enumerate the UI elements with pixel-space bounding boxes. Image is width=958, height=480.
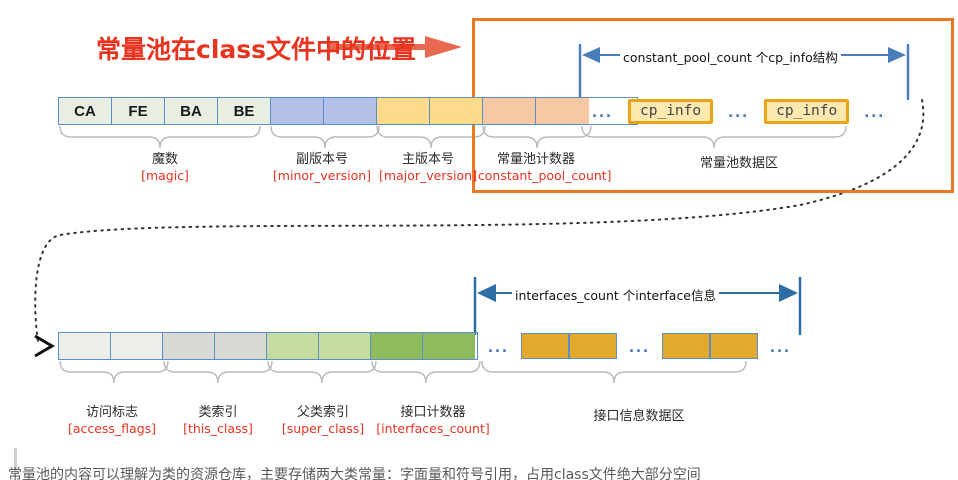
label-interfaces-count-cn: 接口计数器 <box>367 405 499 421</box>
label-access-flags-cn: 访问标志 <box>56 405 168 421</box>
byte-cell-thisclass-0 <box>163 333 215 359</box>
label-access-flags: 访问标志 [access_flags] <box>56 405 168 437</box>
byte-cell-magic-1: FE <box>112 98 165 124</box>
interface-cell <box>710 333 758 359</box>
byte-cell-cpcount-0 <box>483 98 536 124</box>
byte-cell-minor-0 <box>271 98 324 124</box>
interface-data-items: ... ... ... <box>488 331 798 361</box>
footer-text: 常量池的内容可以理解为类的资源仓库，主要存储两大类常量：字面量和符号引用，占用c… <box>8 464 952 480</box>
label-super-class-cn: 父类索引 <box>264 405 382 421</box>
label-this-class: 类索引 [this_class] <box>162 405 274 437</box>
ellipsis-dots: ... <box>592 104 613 118</box>
label-interface-data-region: 接口信息数据区 <box>534 405 744 424</box>
ellipsis-dots: ... <box>770 339 791 353</box>
ellipsis-dots: ... <box>488 339 509 353</box>
label-super-class: 父类索引 [super_class] <box>264 405 382 437</box>
interface-cell <box>569 333 617 359</box>
cp-info-chip: cp_info <box>628 99 713 124</box>
byte-cell-minor-1 <box>324 98 377 124</box>
byte-cell-magic-2: BA <box>165 98 218 124</box>
byte-cell-accessflags-0 <box>59 333 111 359</box>
label-major-version: 主版本号 [major_version] <box>372 152 484 184</box>
label-super-class-code: [super_class] <box>264 421 382 437</box>
class-file-body-strip <box>58 332 478 360</box>
cp-info-chip: cp_info <box>764 99 849 124</box>
byte-cell-ifcount-0 <box>371 333 423 359</box>
byte-cell-superclass-0 <box>267 333 319 359</box>
row2-braces <box>60 361 746 383</box>
label-cpcount-code: [constant_pool_count] <box>473 168 599 184</box>
byte-cell-cpcount-1 <box>536 98 589 124</box>
label-this-class-code: [this_class] <box>162 421 274 437</box>
label-major-version-cn: 主版本号 <box>372 152 484 168</box>
ellipsis-dots: ... <box>629 339 650 353</box>
interface-cell <box>521 333 569 359</box>
page-title: 常量池在class文件中的位置 <box>96 30 416 66</box>
byte-cell-accessflags-1 <box>111 333 163 359</box>
label-access-flags-code: [access_flags] <box>56 421 168 437</box>
label-minor-version-code: [minor_version] <box>266 168 378 184</box>
interface-pair-2 <box>662 333 758 359</box>
label-minor-version-cn: 副版本号 <box>266 152 378 168</box>
byte-cell-magic-0: CA <box>59 98 112 124</box>
label-magic-code: [magic] <box>60 168 270 184</box>
interface-cell <box>662 333 710 359</box>
row2-dimension-label: interfaces_count 个interface信息 <box>512 285 719 304</box>
byte-cell-magic-3: BE <box>218 98 271 124</box>
byte-cell-superclass-1 <box>319 333 371 359</box>
byte-cell-major-1 <box>430 98 483 124</box>
label-minor-version: 副版本号 [minor_version] <box>266 152 378 184</box>
label-this-class-cn: 类索引 <box>162 405 274 421</box>
label-major-version-code: [major_version] <box>372 168 484 184</box>
label-magic-cn: 魔数 <box>60 152 270 168</box>
class-file-header-strip: CA FE BA BE <box>58 97 638 125</box>
byte-cell-ifcount-1 <box>423 333 475 359</box>
ellipsis-dots: ... <box>864 104 885 118</box>
byte-cell-thisclass-1 <box>215 333 267 359</box>
label-magic: 魔数 [magic] <box>60 152 270 184</box>
label-interfaces-count: 接口计数器 [interfaces_count] <box>367 405 499 437</box>
label-cpcount-cn: 常量池计数器 <box>473 152 599 168</box>
byte-cell-major-0 <box>377 98 430 124</box>
row1-dimension-label: constant_pool_count 个cp_info结构 <box>620 47 841 66</box>
ellipsis-dots: ... <box>728 104 749 118</box>
label-constant-pool-data-region: 常量池数据区 <box>634 152 844 171</box>
diagram-canvas: 常量池在class文件中的位置 constant_pool_count 个cp_… <box>0 0 958 480</box>
label-constant-pool-count: 常量池计数器 [constant_pool_count] <box>473 152 599 184</box>
interface-pair-1 <box>521 333 617 359</box>
constant-pool-items: ... cp_info ... cp_info ... <box>592 95 922 127</box>
label-interfaces-count-code: [interfaces_count] <box>367 421 499 437</box>
